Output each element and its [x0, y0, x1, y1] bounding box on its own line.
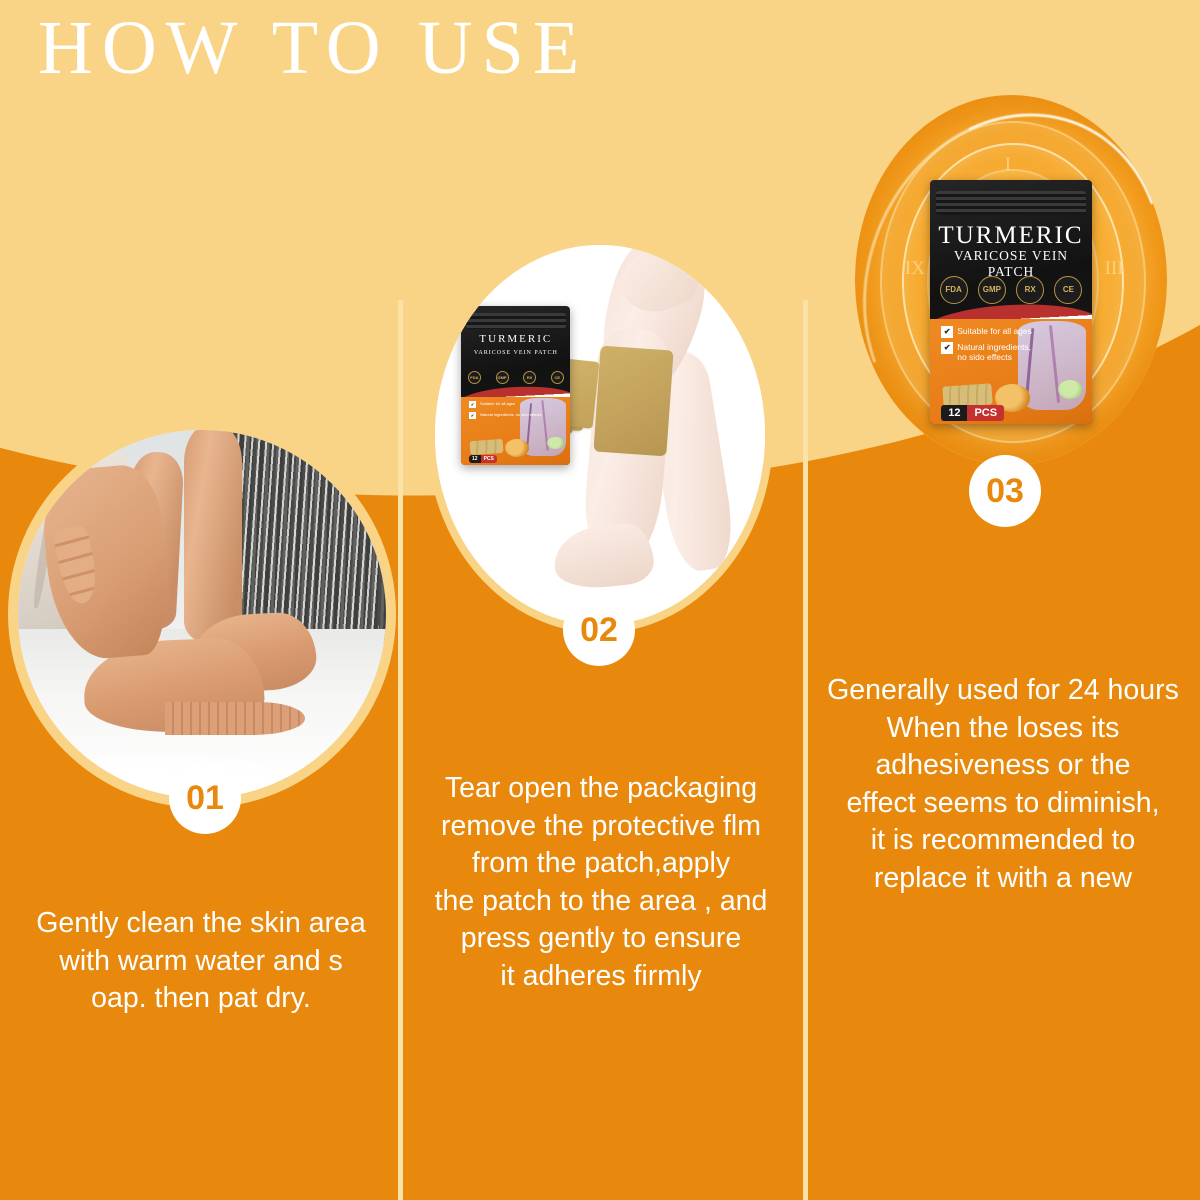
page-title: HOW TO USE [38, 10, 588, 86]
pouch-subtitle: VARICOSE VEIN PATCH [461, 350, 570, 356]
count-unit: PCS [967, 405, 1004, 421]
ce-icon: CE [551, 371, 564, 384]
clock-numeral-ix: IX [905, 258, 925, 280]
step-3-number: 03 [986, 472, 1024, 511]
caduceus-icon: RX [1016, 276, 1044, 304]
certification-badges: FDA GMP RX CE [940, 273, 1083, 307]
pouch-bullets: ✔Suitable for all ages ✔Natural ingredie… [941, 326, 1032, 367]
check-icon: ✔ [469, 412, 476, 419]
pouch-bullets: ✔Suitable for all ages ✔Natural ingredie… [469, 401, 542, 423]
step-3-caption: Generally used for 24 hours When the los… [812, 672, 1194, 898]
bullet-2: Natural ingredients, no sido effects [480, 412, 542, 417]
pouch-lower-panel: ✔Suitable for all ages ✔Natural ingredie… [461, 397, 570, 466]
shower-scene [18, 430, 386, 798]
bullet-2: Natural ingredients, no sido effects [957, 342, 1031, 363]
step-3-photo: I III VI IX TURMERIC VARICOSE VEIN PATCH… [855, 95, 1167, 465]
bullet-1: Suitable for all ages [480, 401, 515, 406]
leaf-icon [547, 437, 563, 449]
gmp-icon: GMP [978, 276, 1006, 304]
applied-patch [593, 345, 673, 456]
caduceus-icon: RX [523, 371, 536, 384]
pouch-count: 12 PCS [941, 405, 1004, 421]
toes [165, 702, 305, 735]
foot [551, 521, 656, 592]
zip-strip [936, 191, 1085, 215]
clock-scene: I III VI IX TURMERIC VARICOSE VEIN PATCH… [855, 95, 1167, 465]
fda-icon: FDA [940, 276, 968, 304]
turmeric-root-icon [505, 439, 529, 457]
pouch-count: 12 PCS [469, 455, 497, 463]
ce-icon: CE [1054, 276, 1082, 304]
pouch-brand: TURMERIC [461, 333, 570, 345]
product-pouch-large: TURMERIC VARICOSE VEIN PATCH FDA GMP RX … [930, 180, 1092, 424]
zip-strip [466, 313, 566, 329]
column-divider-1 [398, 300, 403, 1200]
legs-scene: TURMERIC VARICOSE VEIN PATCH FDA GMP RX … [435, 245, 765, 625]
step-2-photo: TURMERIC VARICOSE VEIN PATCH FDA GMP RX … [435, 245, 765, 625]
bullet-1: Suitable for all ages [957, 326, 1032, 337]
pouch-lower-panel: ✔Suitable for all ages ✔Natural ingredie… [930, 319, 1092, 424]
step-2-badge: 02 [563, 594, 635, 666]
step-1-photo [18, 430, 386, 798]
count-number: 12 [941, 405, 967, 421]
step-1-caption: Gently clean the skin area with warm wat… [10, 905, 392, 1018]
how-to-use-poster: HOW TO USE 01 Gently cle [0, 0, 1200, 1200]
patch-swatch [470, 439, 504, 455]
check-icon: ✔ [941, 342, 953, 354]
gmp-icon: GMP [496, 371, 509, 384]
fingers [52, 524, 101, 606]
clock-numeral-iii: III [1105, 258, 1124, 280]
clock-numeral-xii: I [1005, 154, 1011, 176]
fda-icon: FDA [468, 371, 481, 384]
count-unit: PCS [481, 455, 497, 463]
pouch-brand: TURMERIC [930, 222, 1092, 250]
check-icon: ✔ [941, 326, 953, 338]
step-1-number: 01 [186, 779, 224, 818]
count-number: 12 [469, 455, 481, 463]
column-divider-2 [803, 300, 808, 1200]
step-1-badge: 01 [169, 762, 241, 834]
certification-badges: FDA GMP RX CE [468, 366, 564, 388]
product-pouch-small: TURMERIC VARICOSE VEIN PATCH FDA GMP RX … [461, 306, 570, 466]
step-3-badge: 03 [969, 455, 1041, 527]
check-icon: ✔ [469, 401, 476, 408]
step-2-caption: Tear open the packaging remove the prote… [410, 770, 792, 996]
back-leg [184, 430, 243, 643]
step-2-number: 02 [580, 611, 618, 650]
